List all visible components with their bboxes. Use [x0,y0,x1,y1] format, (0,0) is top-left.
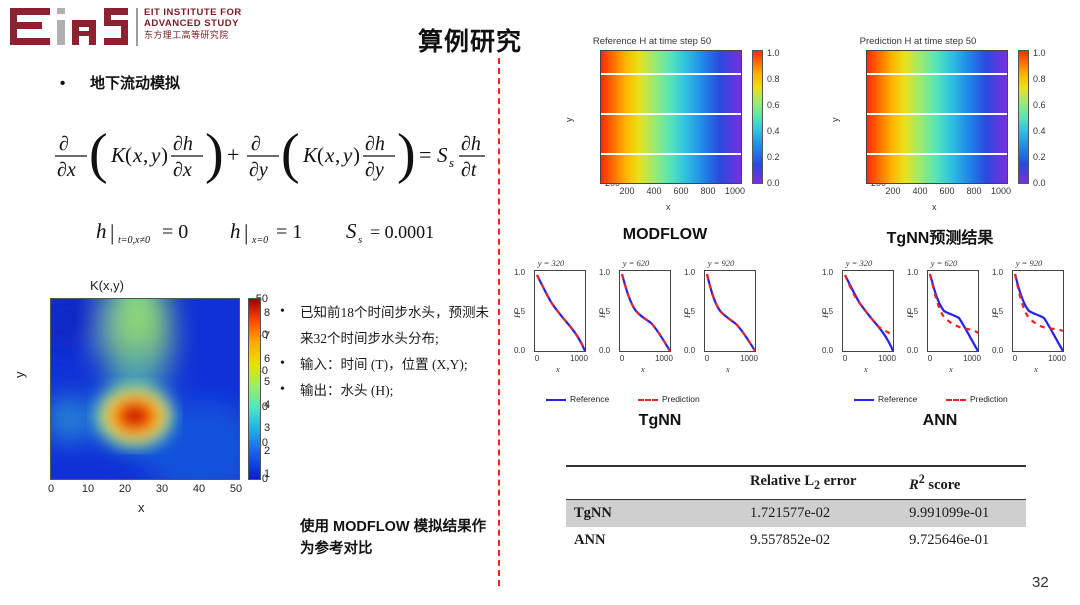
prediction-heatmap-canvas [866,50,1008,184]
svg-text:y: y [149,143,161,167]
pred-xtick-1000: 1000 [988,186,1014,196]
prediction-heatmap-title: Prediction H at time step 50 [828,36,1008,47]
logo-line-1: EIT INSTITUTE FOR [144,7,242,18]
tgnn-y620-ytick-05: 0.5 [599,307,610,316]
ref-xtick-400: 400 [641,186,667,196]
svg-text:s: s [449,155,454,170]
svg-text:S: S [437,143,448,167]
svg-text:∂h: ∂h [365,133,385,155]
svg-text:∂y: ∂y [249,159,268,181]
k-figure-title: K(x,y) [90,278,124,293]
svg-text:= 0.0001: = 0.0001 [370,222,434,242]
tgnn-y920-canvas [704,270,756,352]
table-row: TgNN 1.721577e-02 9.991099e-01 [566,499,1026,527]
ann-y920-ytick-1: 1.0 [992,268,1003,277]
k-xtick-40: 40 [189,483,209,495]
svg-text:K: K [302,143,318,167]
ref-xtick-200: 200 [614,186,640,196]
svg-text:∂h: ∂h [173,133,193,155]
svg-text:x=0: x=0 [251,235,268,246]
pred-cbtick-04: 0.4 [1033,126,1046,136]
pred-cbtick-06: 0.6 [1033,100,1046,110]
legend-prediction-label: Prediction [970,394,1008,404]
k-xtick-0: 0 [41,483,61,495]
row-l2-tgnn: 1.721577e-02 [742,499,901,527]
table-header-row: Relative L2 error R2 score [566,466,1026,499]
ref-cbtick-10: 1.0 [767,48,780,58]
svg-text:s: s [358,234,362,246]
tgnn-y620-xtick-0: 0 [611,354,633,363]
k-cbtick-3: 3 [264,422,270,434]
section-divider [498,58,500,586]
tgnn-y920-ytick-0: 0.0 [684,346,695,355]
tgnn-panel-y320-xlabel: x [556,364,560,374]
k-xtick-20: 20 [115,483,135,495]
k-cbtick-2: 2 [264,445,270,457]
ann-y620-ytick-05: 0.5 [907,307,918,316]
svg-text:(: ( [281,123,300,185]
tgnn-panel-y320-title: y = 320 [512,258,590,268]
table-header-blank [566,466,742,499]
k-field-figure: K(x,y) y x 0 10 20 30 40 50 0 10 20 30 4… [10,278,268,518]
ann-y920-ytick-0: 0.0 [992,346,1003,355]
svg-text:∂: ∂ [59,133,69,155]
list-item: 输出：水头 (H); [278,378,493,404]
svg-text:): ) [161,143,168,167]
ann-y920-ytick-05: 0.5 [992,307,1003,316]
caption-ann: ANN [890,412,990,430]
ann-y620-ytick-0: 0.0 [907,346,918,355]
pred-xtick-400: 400 [907,186,933,196]
table-header-r2: R2 score [901,466,1026,499]
pred-xtick-800: 800 [961,186,987,196]
caption-modflow: MODFLOW [600,226,730,244]
svg-text:|: | [110,220,114,245]
logo-divider [136,8,138,46]
pred-cbtick-00: 0.0 [1033,178,1046,188]
tgnn-panel-y920-title: y = 920 [682,258,760,268]
reference-heatmap-ylabel: y [564,118,574,123]
legend-prediction-swatch [946,399,966,401]
svg-text:= 1: = 1 [276,221,302,243]
k-xtick-50: 50 [226,483,246,495]
k-colorbar [248,298,261,480]
svg-text:x: x [132,143,143,167]
prediction-heatmap-figure: Prediction H at time step 50 y x 200 400… [828,36,1068,216]
logo-line-3: 东方理工高等研究院 [144,30,242,41]
svg-text:= 0: = 0 [162,221,188,243]
k-cbtick-1: 1 [264,468,270,480]
reference-heatmap-title: Reference H at time step 50 [562,36,742,47]
tgnn-panel-y620-title: y = 620 [597,258,675,268]
svg-text:,: , [143,143,148,167]
svg-text:(: ( [89,123,108,185]
row-r2-ann: 9.725646e-01 [901,527,1026,554]
ann-panel-y920-xlabel: x [1034,364,1038,374]
svg-text:∂t: ∂t [461,159,477,181]
ref-xtick-600: 600 [668,186,694,196]
logo-line-2: ADVANCED STUDY [144,18,242,29]
tgnn-panel-y620-xlabel: x [641,364,645,374]
ann-y320-ytick-1: 1.0 [822,268,833,277]
boundary-conditions: h | t=0,x≠0 = 0 h | x=0 = 1 S s = 0.0001 [96,218,486,253]
list-item: 已知前18个时间步水头，预测未来32个时间步水头分布; [278,300,493,352]
k-field-heatmap [50,298,240,480]
k-figure-ylabel: y [12,372,27,379]
svg-text:∂: ∂ [251,133,261,155]
legend-prediction-swatch [638,399,658,401]
k-cbtick-8: 8 [264,307,270,319]
svg-text:∂y: ∂y [365,159,384,181]
page-number: 32 [1032,574,1049,591]
ref-cbtick-04: 0.4 [767,126,780,136]
svg-text:y: y [341,143,353,167]
results-table: Relative L2 error R2 score TgNN 1.721577… [566,465,1026,554]
svg-text:∂x: ∂x [57,159,76,181]
brand-logo: EIT INSTITUTE FOR ADVANCED STUDY 东方理工高等研… [10,4,260,50]
pred-cbtick-10: 1.0 [1033,48,1046,58]
ann-y920-xtick-1000: 1000 [1046,354,1068,363]
ann-y620-xtick-1000: 1000 [961,354,983,363]
svg-text:): ) [353,143,360,167]
r2-label-a: R [909,477,919,493]
svg-text:): ) [397,123,416,185]
svg-text:∂x: ∂x [173,159,192,181]
legend-reference-swatch [546,399,566,401]
ref-xtick-1000: 1000 [722,186,748,196]
caption-tgnn: TgNN [600,412,720,430]
ann-panel-y620-xlabel: x [949,364,953,374]
pred-xtick-200: 200 [880,186,906,196]
svg-text:,: , [335,143,340,167]
ann-panel-y920-title: y = 920 [990,258,1068,268]
table-head: Relative L2 error R2 score [566,466,1026,499]
k-cbtick-6: 6 [264,353,270,365]
row-name-tgnn: TgNN [566,499,742,527]
modflow-note: 使用 MODFLOW 模拟结果作为参考对比 [300,516,490,560]
ann-y620-canvas [927,270,979,352]
row-r2-tgnn: 9.991099e-01 [901,499,1026,527]
svg-text:t=0,x≠0: t=0,x≠0 [118,235,150,246]
svg-text:): ) [205,123,224,185]
pred-cbtick-08: 0.8 [1033,74,1046,84]
tgnn-panel-y920-xlabel: x [726,364,730,374]
svg-text:(: ( [317,143,324,167]
svg-text:(: ( [125,143,132,167]
ann-y620-ytick-1: 1.0 [907,268,918,277]
svg-text:h: h [230,219,241,243]
section-heading-simulation: •地下流动模拟 [60,72,180,93]
ann-legend: Reference Prediction [854,394,1008,404]
tgnn-y320-xtick-1000: 1000 [568,354,590,363]
svg-text:+: + [227,142,239,167]
list-item: 输入：时间 (T)，位置 (X,Y); [278,352,493,378]
prediction-heatmap-xlabel: x [932,202,937,212]
ann-y920-canvas [1012,270,1064,352]
legend-prediction-label: Prediction [662,394,700,404]
reference-colorbar [752,50,763,184]
ann-y320-ytick-0: 0.0 [822,346,833,355]
svg-text:K: K [110,143,126,167]
k-xtick-10: 10 [78,483,98,495]
k-cbtick-5: 5 [264,376,270,388]
svg-text:h: h [96,219,107,243]
k-xtick-30: 30 [152,483,172,495]
tgnn-y320-ytick-1: 1.0 [514,268,525,277]
tgnn-y620-ytick-0: 0.0 [599,346,610,355]
ann-y320-canvas [842,270,894,352]
page-title: 算例研究 [418,22,522,58]
row-l2-ann: 9.557852e-02 [742,527,901,554]
tgnn-y620-ytick-1: 1.0 [599,268,610,277]
tgnn-y620-xtick-1000: 1000 [653,354,675,363]
tgnn-y920-xtick-1000: 1000 [738,354,760,363]
reference-heatmap-canvas [600,50,742,184]
bullet-dot: • [60,75,90,92]
tgnn-y320-xtick-0: 0 [526,354,548,363]
table-body: TgNN 1.721577e-02 9.991099e-01 ANN 9.557… [566,499,1026,554]
tgnn-panel-y920: y = 920 H 0.0 0.5 1.0 0 1000 x [682,258,760,376]
tgnn-lineplot-group: y = 320 H 0.0 0.5 1.0 0 1000 x y = 620 H… [512,258,772,428]
pred-xtick-600: 600 [934,186,960,196]
tgnn-y920-ytick-05: 0.5 [684,307,695,316]
tgnn-panel-y320: y = 320 H 0.0 0.5 1.0 0 1000 x [512,258,590,376]
ref-cbtick-00: 0.0 [767,178,780,188]
tgnn-panel-y620: y = 620 H 0.0 0.5 1.0 0 1000 x [597,258,675,376]
ann-y320-xtick-1000: 1000 [876,354,898,363]
k-cbtick-4: 4 [264,399,270,411]
governing-equation: ∂ ∂x ( K ( x , y ) ∂h ∂x ) + ∂ ∂y ( K ( … [55,110,485,200]
tgnn-y320-ytick-0: 0.0 [514,346,525,355]
tgnn-y920-ytick-1: 1.0 [684,268,695,277]
tgnn-y320-canvas [534,270,586,352]
ref-cbtick-06: 0.6 [767,100,780,110]
k-cbtick-7: 7 [264,330,270,342]
l2-label-b: error [820,473,856,489]
legend-reference-label: Reference [570,394,609,404]
caption-tgnn-prediction: TgNN预测结果 [850,224,1030,248]
ann-panel-y620: y = 620 H 0.0 0.5 1.0 0 1000 x [905,258,983,376]
reference-heatmap-xlabel: x [666,202,671,212]
ann-y620-xtick-0: 0 [919,354,941,363]
k-figure-xlabel: x [138,500,145,515]
ref-xtick-800: 800 [695,186,721,196]
tgnn-y920-xtick-0: 0 [696,354,718,363]
ann-panel-y620-title: y = 620 [905,258,983,268]
r2-label-b: score [925,477,961,493]
svg-text:x: x [324,143,335,167]
svg-text:|: | [244,220,248,245]
svg-text:∂h: ∂h [461,133,481,155]
legend-reference-label: Reference [878,394,917,404]
pred-cbtick-02: 0.2 [1033,152,1046,162]
ann-lineplot-group: y = 320 H 0.0 0.5 1.0 0 1000 x y = 620 H… [820,258,1080,428]
setup-bullet-list: 已知前18个时间步水头，预测未来32个时间步水头分布; 输入：时间 (T)，位置… [278,300,493,404]
svg-text:S: S [346,219,357,243]
eias-logo-icon [10,6,128,48]
ann-y320-ytick-05: 0.5 [822,307,833,316]
row-name-ann: ANN [566,527,742,554]
ann-panel-y320-xlabel: x [864,364,868,374]
l2-label-a: Relative L [750,473,814,489]
section-heading-label: 地下流动模拟 [90,75,180,92]
ann-panel-y320: y = 320 H 0.0 0.5 1.0 0 1000 x [820,258,898,376]
tgnn-y620-canvas [619,270,671,352]
ref-cbtick-02: 0.2 [767,152,780,162]
tgnn-y320-ytick-05: 0.5 [514,307,525,316]
ref-cbtick-08: 0.8 [767,74,780,84]
table-header-l2: Relative L2 error [742,466,901,499]
table-row: ANN 9.557852e-02 9.725646e-01 [566,527,1026,554]
tgnn-legend: Reference Prediction [546,394,700,404]
ann-panel-y920: y = 920 H 0.0 0.5 1.0 0 1000 x [990,258,1068,376]
ann-panel-y320-title: y = 320 [820,258,898,268]
ann-y920-xtick-0: 0 [1004,354,1026,363]
prediction-colorbar [1018,50,1029,184]
svg-text:=: = [419,142,431,167]
ann-y320-xtick-0: 0 [834,354,856,363]
prediction-heatmap-ylabel: y [830,118,840,123]
legend-reference-swatch [854,399,874,401]
reference-heatmap-figure: Reference H at time step 50 y x 200 400 … [562,36,802,216]
